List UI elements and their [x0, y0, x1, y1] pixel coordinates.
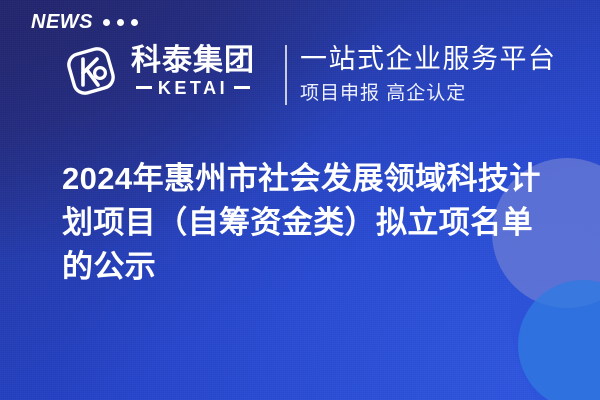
news-dot-icon	[131, 19, 138, 26]
news-dot-icon	[117, 19, 124, 26]
news-dot-icon	[103, 19, 110, 26]
headline-line: 的公示	[62, 245, 572, 289]
news-banner: NEWS 科泰集团 KETAI	[0, 0, 600, 400]
ketai-diamond-k-logo-icon	[62, 40, 120, 102]
headline-line: 划项目（自筹资金类）拟立项名单	[62, 201, 572, 245]
tagline-block: 一站式企业服务平台 项目申报 高企认定	[300, 42, 557, 106]
logo-wordmark: 科泰集团 KETAI	[131, 45, 255, 97]
logo-rule-right-icon	[234, 86, 250, 89]
tagline-main: 一站式企业服务平台	[300, 42, 557, 77]
logo-name-en-row: KETAI	[131, 79, 255, 97]
decorative-circle-bright-blue	[518, 280, 600, 400]
headline: 2024年惠州市社会发展领域科技计 划项目（自筹资金类）拟立项名单 的公示	[62, 157, 572, 289]
logo-rule-left-icon	[136, 86, 152, 89]
brand-logo: 科泰集团 KETAI	[62, 40, 255, 102]
logo-name-cn: 科泰集团	[131, 45, 255, 77]
logo-name-en: KETAI	[158, 79, 228, 97]
tagline-sub: 项目申报 高企认定	[300, 82, 557, 107]
header-divider	[285, 45, 287, 105]
news-label: NEWS	[31, 12, 93, 32]
news-dots-icon	[103, 18, 138, 26]
headline-line: 2024年惠州市社会发展领域科技计	[62, 157, 572, 201]
news-eyebrow: NEWS	[31, 12, 138, 32]
